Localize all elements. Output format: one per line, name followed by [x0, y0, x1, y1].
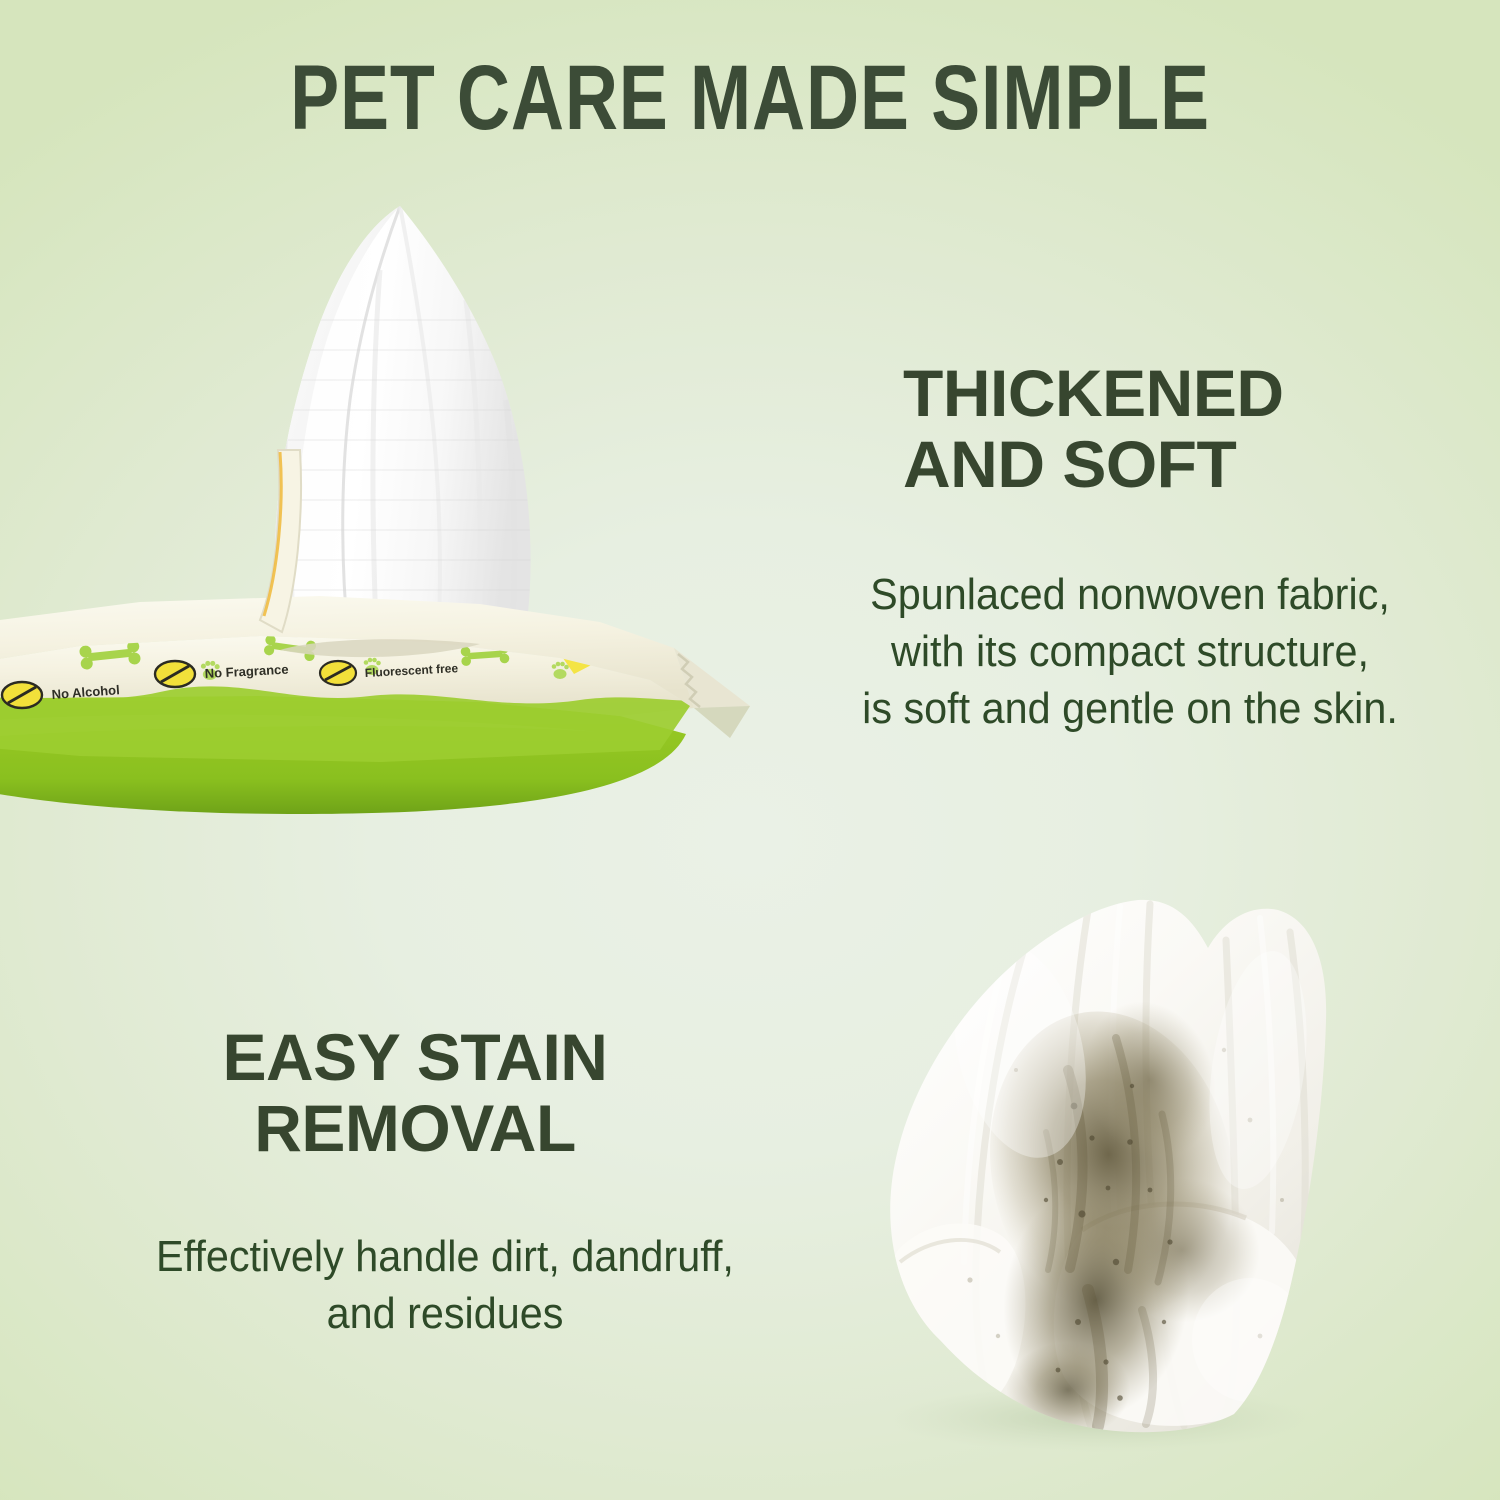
feature-thickened-body-line2: with its compact structure,: [820, 623, 1440, 680]
feature-thickened-body-line3: is soft and gentle on the skin.: [820, 680, 1440, 737]
feature-stain-heading-line1: EASY STAIN: [223, 1020, 608, 1094]
soiled-wipe-image: [820, 870, 1340, 1450]
feature-thickened-body: Spunlaced nonwoven fabric, with its comp…: [820, 566, 1440, 738]
feature-stain-heading-line2: REMOVAL: [60, 1093, 770, 1164]
fluorescent-free-icon: [320, 661, 356, 685]
feature-stain-body-line1: Effectively handle dirt, dandruff,: [74, 1228, 817, 1285]
feature-stain-heading: EASY STAIN REMOVAL: [60, 1022, 770, 1165]
feature-thickened-heading: THICKENED AND SOFT: [903, 358, 1463, 501]
feature-stain-body-line2: and residues: [74, 1285, 817, 1342]
no-alcohol-icon: [2, 682, 42, 708]
wipes-pack-image: No Alcohol No Fragrance Fluore: [0, 150, 750, 830]
no-fragrance-icon: [155, 661, 195, 687]
soiled-wipe-cloth: [860, 900, 1326, 1438]
page-title: PET CARE MADE SIMPLE: [150, 52, 1350, 144]
feature-thickened-heading-line1: THICKENED: [903, 356, 1284, 430]
feature-stain-body: Effectively handle dirt, dandruff, and r…: [74, 1228, 817, 1342]
product-feature-panel: PET CARE MADE SIMPLE: [0, 0, 1500, 1500]
feature-thickened-heading-line2: AND SOFT: [903, 429, 1463, 500]
feature-thickened-body-line1: Spunlaced nonwoven fabric,: [820, 566, 1440, 623]
